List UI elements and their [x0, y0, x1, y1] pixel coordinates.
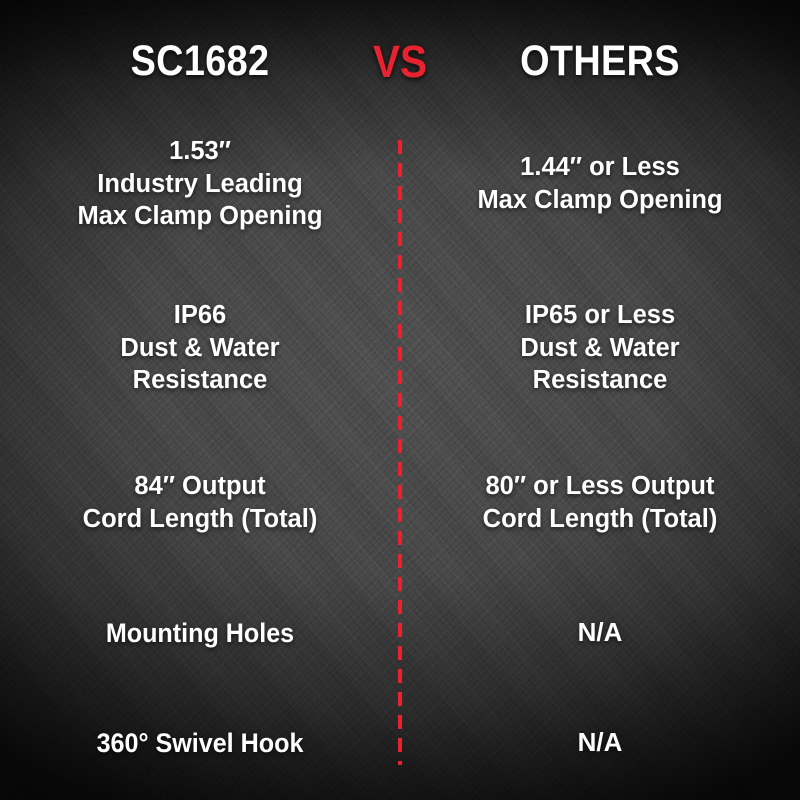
comparison-row-output-cord-length: 84″ OutputCord Length (Total)80″ or Less…: [0, 428, 800, 578]
cell-line: 1.53″: [26, 135, 374, 168]
cell-line: Dust & Water: [26, 332, 374, 365]
cell-right-swivel-hook: N/A: [400, 726, 800, 759]
cell-right-dust-water-resistance: IP65 or LessDust & WaterResistance: [400, 299, 800, 397]
cell-line: N/A: [426, 616, 774, 649]
cell-line: Cord Length (Total): [26, 503, 374, 536]
cell-line: Cord Length (Total): [426, 503, 774, 536]
cell-line: Industry Leading: [26, 168, 374, 201]
cell-line: 1.44″ or Less: [426, 151, 774, 184]
cell-line: 80″ or Less Output: [426, 470, 774, 503]
vs-label: VS: [40, 30, 760, 92]
cell-left-dust-water-resistance: IP66Dust & WaterResistance: [0, 299, 400, 397]
comparison-rows: 1.53″Industry LeadingMax Clamp Opening1.…: [0, 100, 800, 798]
cell-line: N/A: [426, 726, 774, 759]
cell-left-max-clamp-opening: 1.53″Industry LeadingMax Clamp Opening: [0, 135, 400, 233]
cell-line: Mounting Holes: [38, 616, 362, 651]
cell-line: IP66: [26, 299, 374, 332]
cell-line: Dust & Water: [426, 332, 774, 365]
chart-header: SC1682 OTHERS VS: [0, 30, 800, 92]
cell-left-swivel-hook: 360° Swivel Hook: [14, 726, 386, 761]
cell-line: 84″ Output: [26, 470, 374, 503]
cell-line: IP65 or Less: [426, 299, 774, 332]
cell-right-max-clamp-opening: 1.44″ or LessMax Clamp Opening: [400, 151, 800, 216]
comparison-chart: SC1682 OTHERS VS 1.53″Industry LeadingMa…: [0, 0, 800, 800]
comparison-row-mounting-holes: Mounting HolesN/A: [0, 578, 800, 688]
cell-left-output-cord-length: 84″ OutputCord Length (Total): [0, 470, 400, 535]
comparison-row-swivel-hook: 360° Swivel HookN/A: [0, 688, 800, 798]
cell-left-mounting-holes: Mounting Holes: [14, 616, 386, 651]
cell-line: Resistance: [26, 364, 374, 397]
cell-line: Max Clamp Opening: [26, 200, 374, 233]
cell-line: Max Clamp Opening: [426, 184, 774, 217]
comparison-row-max-clamp-opening: 1.53″Industry LeadingMax Clamp Opening1.…: [0, 100, 800, 268]
cell-right-mounting-holes: N/A: [400, 616, 800, 649]
cell-right-output-cord-length: 80″ or Less OutputCord Length (Total): [400, 470, 800, 535]
cell-line: Resistance: [426, 364, 774, 397]
cell-line: 360° Swivel Hook: [38, 726, 362, 761]
comparison-row-dust-water-resistance: IP66Dust & WaterResistanceIP65 or LessDu…: [0, 268, 800, 428]
